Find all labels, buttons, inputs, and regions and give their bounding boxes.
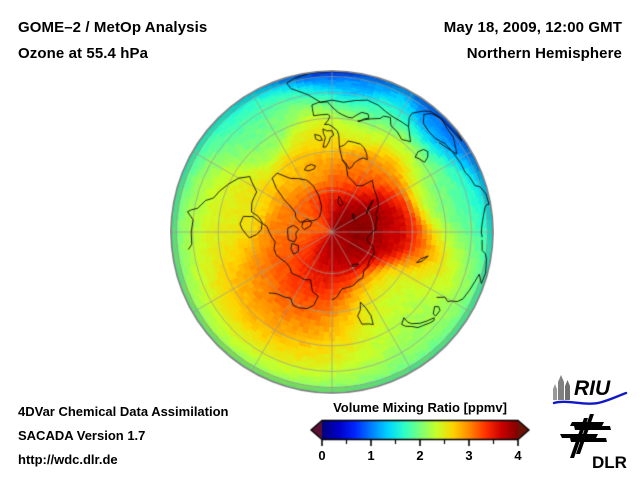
colorbar-tick-0: 0 <box>318 448 325 463</box>
colorbar-gradient <box>310 419 530 449</box>
page-subtitle: Ozone at 55.4 hPa <box>18 45 148 62</box>
colorbar-tick-2: 2 <box>416 448 423 463</box>
colorbar-tick-1: 1 <box>367 448 374 463</box>
credit-line-version: SACADA Version 1.7 <box>18 428 145 443</box>
colorbar: Volume Mixing Ratio [ppmv] 01234 <box>310 400 530 472</box>
colorbar-tick-labels: 01234 <box>310 448 530 468</box>
logo-group: RIU DLR <box>548 372 634 474</box>
riu-logo: RIU <box>552 372 628 406</box>
riu-wordmark: RIU <box>574 377 611 400</box>
credit-line-assimilation: 4DVar Chemical Data Assimilation <box>18 404 229 419</box>
globe-canvas <box>170 70 494 394</box>
colorbar-tick-3: 3 <box>465 448 472 463</box>
colorbar-title: Volume Mixing Ratio [ppmv] <box>310 400 530 415</box>
page-title: GOME–2 / MetOp Analysis <box>18 19 207 36</box>
colorbar-tick-4: 4 <box>514 448 521 463</box>
riu-towers-icon <box>553 375 570 400</box>
dlr-wordmark: DLR <box>592 453 627 472</box>
dlr-logo: DLR <box>554 412 630 472</box>
region-label: Northern Hemisphere <box>467 45 622 62</box>
credit-line-url: http://wdc.dlr.de <box>18 452 118 467</box>
timestamp-label: May 18, 2009, 12:00 GMT <box>444 19 622 36</box>
dlr-mark-icon <box>560 414 611 458</box>
globe-map <box>170 70 494 394</box>
